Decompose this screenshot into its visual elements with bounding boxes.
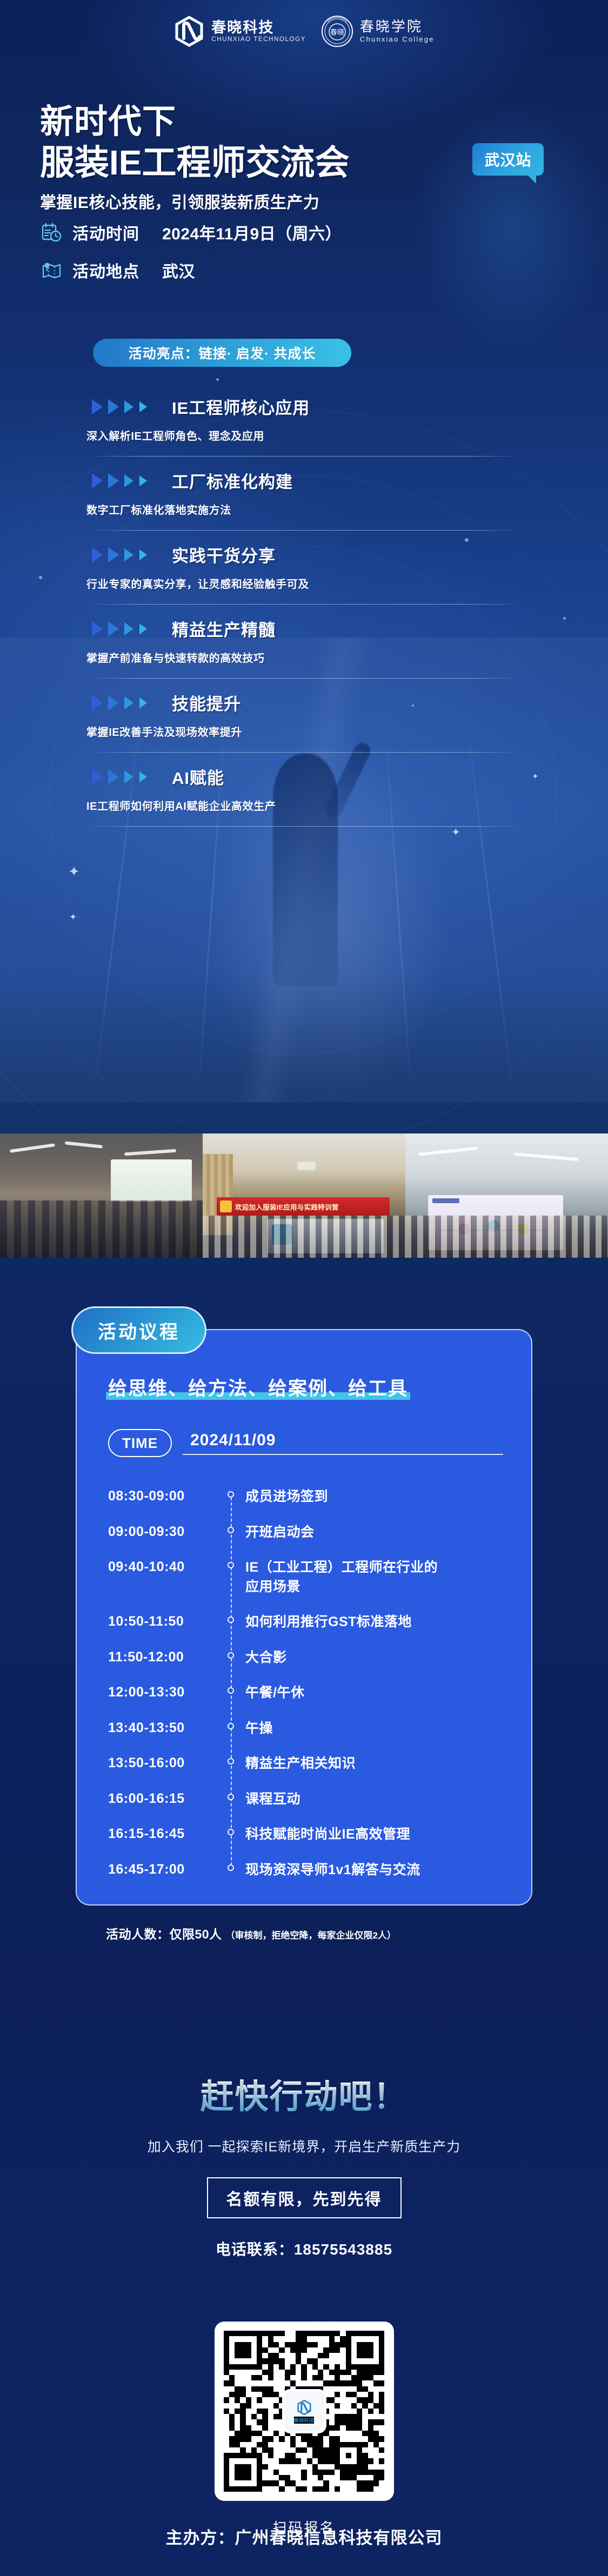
schedule-text: 大合影 (245, 1648, 503, 1668)
event-photo-1 (0, 1133, 203, 1258)
timeline-dot-icon (216, 1523, 245, 1533)
timeline-dot-icon (216, 1648, 245, 1659)
schedule-time: 16:45-17:00 (108, 1861, 216, 1879)
college-seal-icon: 春晓 (321, 15, 353, 48)
schedule-row: 16:15-16:45 科技赋能时尚业IE高效管理 (108, 1825, 503, 1844)
schedule-text: 精益生产相关知识 (245, 1754, 503, 1774)
sparkle-icon: ✦ (69, 912, 77, 923)
schedule-row: 13:50-16:00 精益生产相关知识 (108, 1754, 503, 1774)
highlight-desc: 行业专家的真实分享，让灵感和经验触手可及 (86, 575, 608, 591)
qr-section: 春晓科技 扫码报名 (0, 2322, 608, 2537)
logo-college-en: Chunxiao College (360, 35, 435, 43)
capacity-note: 活动人数：仅限50人 （审核制，拒绝空降，每家企业仅限2人） (106, 1924, 532, 1942)
qr-logo-text: 春晓科技 (294, 2417, 314, 2424)
schedule-text: 科技赋能时尚业IE高效管理 (245, 1825, 503, 1844)
host-line: 主办方：广州春晓信息科技有限公司 (0, 2524, 608, 2548)
highlight-item: 精益生产精髓 掌握产前准备与快速转款的高效技巧 (0, 616, 608, 679)
calendar-clock-icon (40, 221, 63, 244)
schedule-time: 11:50-12:00 (108, 1648, 216, 1666)
divider (86, 678, 522, 679)
timeline-dot-icon (216, 1719, 245, 1729)
logo-college-cn: 春晓学院 (360, 19, 435, 34)
contact-phone[interactable]: 电话联系：18575543885 (0, 2238, 608, 2259)
schedule-text: 午操 (245, 1719, 503, 1739)
banner-logo-icon (220, 1200, 232, 1212)
agenda-date: 2024/11/09 (183, 1431, 503, 1454)
timeline-dot-icon (216, 1790, 245, 1800)
timeline-dot-icon (216, 1754, 245, 1765)
logo-tech-en: CHUNXIAO TECHNOLOGY (211, 36, 306, 43)
capacity-detail: （审核制，拒绝空降，每家企业仅限2人） (225, 1930, 396, 1941)
time-chip-label: TIME (108, 1429, 172, 1457)
timeline-dot-icon (216, 1861, 245, 1871)
schedule-text: 成员进场签到 (245, 1487, 503, 1507)
qr-center-logo: 春晓科技 (284, 2391, 324, 2431)
event-photo-3 (405, 1133, 608, 1258)
schedule-row: 09:40-10:40 IE（工业工程）工程师在行业的应用场景 (108, 1558, 503, 1596)
chevron-right-icon (91, 545, 162, 565)
schedule-time: 09:00-09:30 (108, 1523, 216, 1541)
schedule-time: 16:00-16:15 (108, 1790, 216, 1808)
highlights-list: IE工程师核心应用 深入解析IE工程师角色、理念及应用 工厂标准化构建 数字工厂… (0, 394, 608, 838)
logo-chunxiao-technology: 春晓科技 CHUNXIAO TECHNOLOGY (173, 16, 306, 47)
schedule-text: 午餐/午休 (245, 1683, 503, 1703)
decor-dot (216, 378, 219, 381)
projector (297, 1162, 316, 1170)
chunxiao-logo-icon (296, 2399, 312, 2416)
timeline-dot-icon (216, 1558, 245, 1568)
event-place-label: 活动地点 (72, 258, 139, 282)
banner-text: 欢迎加入服装IE应用与实践特训营 (235, 1202, 339, 1212)
timeline-dot-icon (216, 1825, 245, 1835)
divider (86, 604, 522, 605)
schedule-text: 课程互动 (245, 1790, 503, 1809)
agenda-card: 活动议程 给思维、给方法、给案例、给工具 TIME 2024/11/09 08:… (76, 1329, 532, 1906)
highlight-item: IE工程师核心应用 深入解析IE工程师角色、理念及应用 (0, 394, 608, 457)
chevron-right-icon (91, 471, 162, 491)
schedule-text: 如何利用推行GST标准落地 (245, 1613, 503, 1632)
schedule-time: 08:30-09:00 (108, 1487, 216, 1505)
welcome-banner: 欢迎加入服装IE应用与实践特训营 (217, 1197, 390, 1216)
schedule-row: 11:50-12:00 大合影 (108, 1648, 503, 1668)
event-place-value: 武汉 (162, 258, 195, 282)
agenda-date-row: TIME 2024/11/09 (108, 1429, 503, 1457)
event-photo-2: 欢迎加入服装IE应用与实践特训营 (203, 1133, 405, 1258)
schedule-row: 12:00-13:30 午餐/午休 (108, 1683, 503, 1703)
limited-seats-badge: 名额有限，先到先得 (207, 2177, 402, 2218)
highlight-title: 工厂标准化构建 (172, 468, 293, 493)
schedule-time: 10:50-11:50 (108, 1613, 216, 1631)
qr-matrix: 春晓科技 (224, 2331, 385, 2492)
highlight-desc: IE工程师如何利用AI赋能企业高效生产 (86, 797, 608, 813)
wall-display (111, 1159, 192, 1202)
schedule-time: 09:40-10:40 (108, 1558, 216, 1576)
chevron-right-icon (91, 767, 162, 787)
chunxiao-hexagon-logo-icon (173, 16, 205, 47)
highlight-title: AI赋能 (172, 764, 224, 789)
event-place-row: 活动地点 武汉 (40, 258, 570, 282)
agenda-section: 活动议程 给思维、给方法、给案例、给工具 TIME 2024/11/09 08:… (76, 1329, 532, 1942)
hero-section: 新时代下 服装IE工程师交流会 掌握IE核心技能，引领服装新质生产力 武汉站 (40, 104, 570, 213)
timeline-dot-icon (216, 1613, 245, 1623)
schedule-row: 09:00-09:30 开班启动会 (108, 1523, 503, 1542)
highlight-title: IE工程师核心应用 (172, 394, 310, 419)
agenda-subtitle: 给思维、给方法、给案例、给工具 (108, 1373, 408, 1401)
divider (86, 456, 522, 457)
cta-headline: 赶快行动吧！ (0, 2069, 608, 2118)
timeline-dot-icon (216, 1487, 245, 1498)
logo-tech-cn: 春晓科技 (211, 20, 306, 35)
highlight-item: 技能提升 掌握IE改善手法及现场效率提升 (0, 690, 608, 753)
highlight-desc: 数字工厂标准化落地实施方法 (86, 501, 608, 517)
schedule-text: IE（工业工程）工程师在行业的应用场景 (245, 1558, 451, 1596)
highlight-desc: 掌握IE改善手法及现场效率提升 (86, 723, 608, 739)
highlight-desc: 掌握产前准备与快速转款的高效技巧 (86, 649, 608, 665)
highlight-title: 技能提升 (172, 690, 241, 715)
agenda-tab-label: 活动议程 (71, 1306, 206, 1354)
highlight-item: 实践干货分享 行业专家的真实分享，让灵感和经验触手可及 (0, 542, 608, 605)
schedule-row: 13:40-13:50 午操 (108, 1719, 503, 1739)
schedule-row: 08:30-09:00 成员进场签到 (108, 1487, 503, 1507)
cta-section: 赶快行动吧！ 加入我们 一起探索IE新境界，开启生产新质生产力 名额有限，先到先… (0, 2069, 608, 2259)
schedule-row: 10:50-11:50 如何利用推行GST标准落地 (108, 1613, 503, 1632)
schedule-time: 13:40-13:50 (108, 1719, 216, 1737)
sparkle-icon: ✦ (68, 863, 80, 880)
event-time-value: 2024年11月9日（周六） (162, 220, 342, 244)
logo-chunxiao-college: 春晓 春晓学院 Chunxiao College (321, 15, 435, 48)
photo-strip: 欢迎加入服装IE应用与实践特训营 (0, 1133, 608, 1258)
highlight-item: 工厂标准化构建 数字工厂标准化落地实施方法 (0, 468, 608, 531)
poster-root: ✦ ✦ ✦ ✦ 春晓科技 CHUNXIAO TECHNOLOGY (0, 0, 608, 2576)
schedule-list: 08:30-09:00 成员进场签到 09:00-09:30 开班启动会 09:… (108, 1487, 503, 1880)
divider (183, 1454, 503, 1455)
map-pin-icon (40, 259, 63, 281)
header-logos: 春晓科技 CHUNXIAO TECHNOLOGY 春晓 春晓学院 Chunxia… (0, 12, 608, 51)
city-badge: 武汉站 (472, 143, 544, 176)
highlights-banner: 活动亮点：链接· 启发· 共成长 (93, 339, 351, 367)
schedule-text: 现场资深导师1v1解答与交流 (245, 1861, 503, 1880)
schedule-time: 13:50-16:00 (108, 1754, 216, 1772)
divider (86, 826, 522, 827)
schedule-text: 开班启动会 (245, 1523, 503, 1542)
qr-code[interactable]: 春晓科技 (215, 2322, 394, 2501)
svg-text:春晓: 春晓 (330, 28, 344, 36)
timeline-line (231, 1492, 232, 1871)
divider (86, 752, 522, 753)
schedule-time: 12:00-13:30 (108, 1683, 216, 1701)
schedule-row: 16:00-16:15 课程互动 (108, 1790, 503, 1809)
page-subtitle: 掌握IE核心技能，引领服装新质生产力 (40, 189, 570, 213)
page-title-line1: 新时代下 (40, 104, 570, 140)
highlight-title: 实践干货分享 (172, 542, 276, 567)
cta-subline: 加入我们 一起探索IE新境界，开启生产新质生产力 (0, 2136, 608, 2156)
event-info: 活动时间 2024年11月9日（周六） 活动地点 武汉 (40, 220, 570, 296)
chevron-right-icon (91, 397, 162, 417)
schedule-time: 16:15-16:45 (108, 1825, 216, 1843)
schedule-row: 16:45-17:00 现场资深导师1v1解答与交流 (108, 1861, 503, 1880)
highlight-item: AI赋能 IE工程师如何利用AI赋能企业高效生产 (0, 764, 608, 827)
divider (86, 530, 522, 531)
event-time-label: 活动时间 (72, 220, 139, 244)
chevron-right-icon (91, 693, 162, 713)
timeline-dot-icon (216, 1683, 245, 1694)
capacity-main: 活动人数：仅限50人 (106, 1927, 222, 1941)
highlight-title: 精益生产精髓 (172, 616, 276, 641)
event-time-row: 活动时间 2024年11月9日（周六） (40, 220, 570, 244)
highlight-desc: 深入解析IE工程师角色、理念及应用 (86, 427, 608, 443)
chevron-right-icon (91, 619, 162, 639)
